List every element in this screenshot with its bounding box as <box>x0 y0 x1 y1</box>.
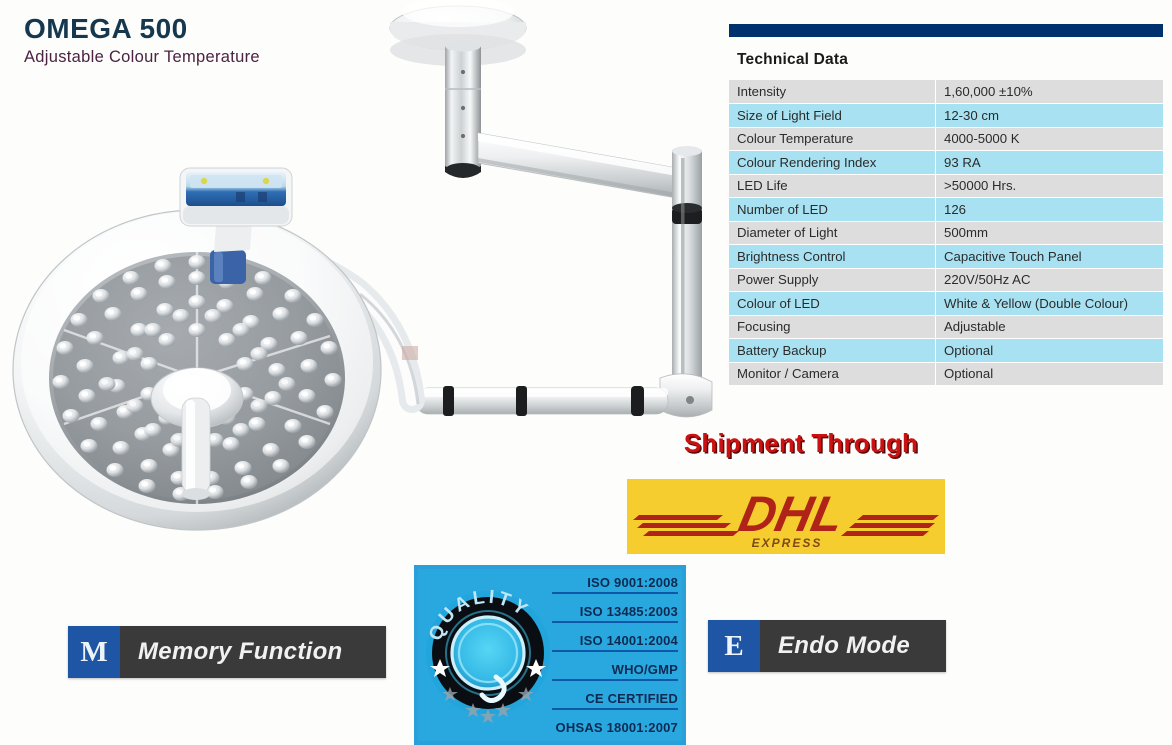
quality-medallion-icon: QUALITY <box>418 573 558 733</box>
shipment-heading: Shipment Through <box>641 428 961 459</box>
product-photo <box>0 0 726 580</box>
feature-badge-endo[interactable]: E Endo Mode <box>708 620 946 672</box>
spec-value: 220V/50Hz AC <box>936 268 1164 292</box>
dhl-wordmark: DHL <box>734 486 849 542</box>
spec-value: 1,60,000 ±10% <box>936 80 1164 104</box>
control-touch-panel <box>180 168 292 226</box>
table-row: Colour of LEDWhite & Yellow (Double Colo… <box>729 292 1163 316</box>
table-row: Power Supply220V/50Hz AC <box>729 268 1163 292</box>
spec-label: Power Supply <box>729 268 936 292</box>
spec-label: Battery Backup <box>729 339 936 363</box>
certification-item: WHO/GMP <box>552 662 678 681</box>
dhl-logo: DHL EXPRESS <box>627 479 945 554</box>
spec-label: Intensity <box>729 80 936 104</box>
spec-value: 500mm <box>936 221 1164 245</box>
spec-value: Adjustable <box>936 315 1164 339</box>
poster-canvas: OMEGA 500 Adjustable Colour Temperature <box>0 0 1172 745</box>
certification-item: OHSAS 18001:2007 <box>552 720 678 737</box>
dhl-express-text: EXPRESS <box>752 536 823 550</box>
table-row: LED Life>50000 Hrs. <box>729 174 1163 198</box>
spec-value: 12-30 cm <box>936 104 1164 128</box>
spec-value: Capacitive Touch Panel <box>936 245 1164 269</box>
table-row: Intensity1,60,000 ±10% <box>729 80 1163 104</box>
feature-badge-memory[interactable]: M Memory Function <box>68 626 386 678</box>
spec-label: Focusing <box>729 315 936 339</box>
table-row: Monitor / CameraOptional <box>729 362 1163 386</box>
certification-item: ISO 13485:2003 <box>552 604 678 623</box>
endo-badge-label: Endo Mode <box>760 620 932 672</box>
table-row: Diameter of Light500mm <box>729 221 1163 245</box>
spec-label: LED Life <box>729 174 936 198</box>
spec-label: Number of LED <box>729 198 936 222</box>
spec-value: 4000-5000 K <box>936 127 1164 151</box>
spec-label: Size of Light Field <box>729 104 936 128</box>
table-row: Colour Temperature4000-5000 K <box>729 127 1163 151</box>
spec-value: 93 RA <box>936 151 1164 175</box>
memory-badge-letter: M <box>68 626 120 678</box>
spec-label: Brightness Control <box>729 245 936 269</box>
spec-value: White & Yellow (Double Colour) <box>936 292 1164 316</box>
memory-badge-label: Memory Function <box>120 626 365 678</box>
table-row: Colour Rendering Index93 RA <box>729 151 1163 175</box>
table-row: Size of Light Field12-30 cm <box>729 104 1163 128</box>
spec-value: >50000 Hrs. <box>936 174 1164 198</box>
table-row: Number of LED126 <box>729 198 1163 222</box>
technical-data-table: Intensity1,60,000 ±10%Size of Light Fiel… <box>729 80 1163 386</box>
spec-label: Colour Temperature <box>729 127 936 151</box>
table-row: Brightness ControlCapacitive Touch Panel <box>729 245 1163 269</box>
endo-badge-letter: E <box>708 620 760 672</box>
table-row: FocusingAdjustable <box>729 315 1163 339</box>
panel-accent-bar <box>729 24 1163 37</box>
certification-item: ISO 9001:2008 <box>552 575 678 594</box>
spec-value: Optional <box>936 362 1164 386</box>
spec-label: Colour Rendering Index <box>729 151 936 175</box>
spec-value: Optional <box>936 339 1164 363</box>
spec-value: 126 <box>936 198 1164 222</box>
vertical-post <box>672 146 702 398</box>
horizontal-arm <box>478 133 688 200</box>
spec-label: Diameter of Light <box>729 221 936 245</box>
certification-item: CE CERTIFIED <box>552 691 678 710</box>
led-dome-head <box>13 210 381 530</box>
technical-data-panel: Technical Data Intensity1,60,000 ±10%Siz… <box>729 24 1163 386</box>
spec-label: Colour of LED <box>729 292 936 316</box>
spec-label: Monitor / Camera <box>729 362 936 386</box>
certification-item: ISO 14001:2004 <box>552 633 678 652</box>
table-row: Battery BackupOptional <box>729 339 1163 363</box>
chrome-column <box>445 41 481 179</box>
lower-arm <box>416 386 668 416</box>
technical-data-heading: Technical Data <box>729 37 1163 80</box>
certification-list: ISO 9001:2008ISO 13485:2003ISO 14001:200… <box>552 575 678 737</box>
quality-certification-seal: QUALITY ISO 9001:2008ISO 13485:2003ISO 1… <box>414 565 686 745</box>
lower-joint <box>660 374 712 417</box>
